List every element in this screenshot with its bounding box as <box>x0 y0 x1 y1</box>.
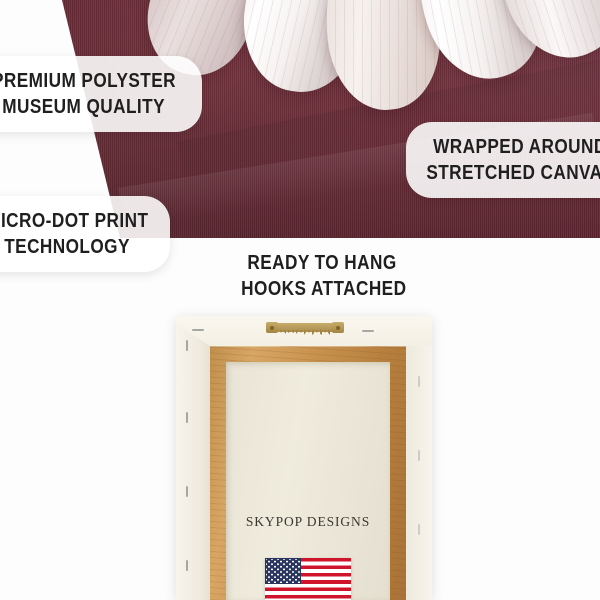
staple <box>186 340 188 351</box>
staple <box>192 329 204 331</box>
product-feature-image: PREMIUM POLYSTER MUSEUM QUALITY MICRO-DO… <box>0 0 600 600</box>
sawtooth-hanger-icon <box>266 322 344 335</box>
staple <box>418 376 420 387</box>
staple <box>418 524 420 535</box>
us-flag-icon <box>265 558 351 600</box>
wooden-stretcher-frame: SKYPOP DESIGNS <box>210 346 406 600</box>
ready-to-hang-label: READY TO HANG HOOKS ATTACHED <box>228 250 416 303</box>
staple <box>362 330 374 332</box>
callout-premium-polyster: PREMIUM POLYSTER MUSEUM QUALITY <box>0 56 202 132</box>
staple <box>186 412 188 423</box>
staple <box>418 450 420 461</box>
callout-line-1: MICRO-DOT PRINT <box>0 208 148 234</box>
canvas-inner-back: SKYPOP DESIGNS <box>226 362 390 600</box>
ready-line-1: READY TO HANG <box>241 250 403 276</box>
callout-line-2: STRETCHED CANVAS <box>426 160 600 186</box>
staple <box>186 560 188 571</box>
callout-line-1: WRAPPED AROUND <box>433 134 600 160</box>
flag-union <box>265 558 301 584</box>
staple <box>186 486 188 497</box>
canvas-left-edge <box>176 316 210 600</box>
hanger-screw-hole-left <box>266 322 278 333</box>
callout-line-2: TECHNOLOGY <box>4 234 130 260</box>
hanger-teeth <box>278 330 332 335</box>
canvas-back-view: SKYPOP DESIGNS <box>176 316 432 600</box>
brand-text: SKYPOP DESIGNS <box>226 514 390 530</box>
ready-line-2: HOOKS ATTACHED <box>241 276 403 302</box>
hanger-screw-hole-right <box>332 322 344 333</box>
callout-line-2: MUSEUM QUALITY <box>3 94 166 120</box>
flag-stars <box>266 559 300 583</box>
callout-wrapped-around: WRAPPED AROUND STRETCHED CANVAS <box>406 122 600 198</box>
callout-micro-dot-print: MICRO-DOT PRINT TECHNOLOGY <box>0 196 170 272</box>
canvas-right-edge <box>402 316 432 600</box>
callout-line-1: PREMIUM POLYSTER <box>0 68 176 94</box>
